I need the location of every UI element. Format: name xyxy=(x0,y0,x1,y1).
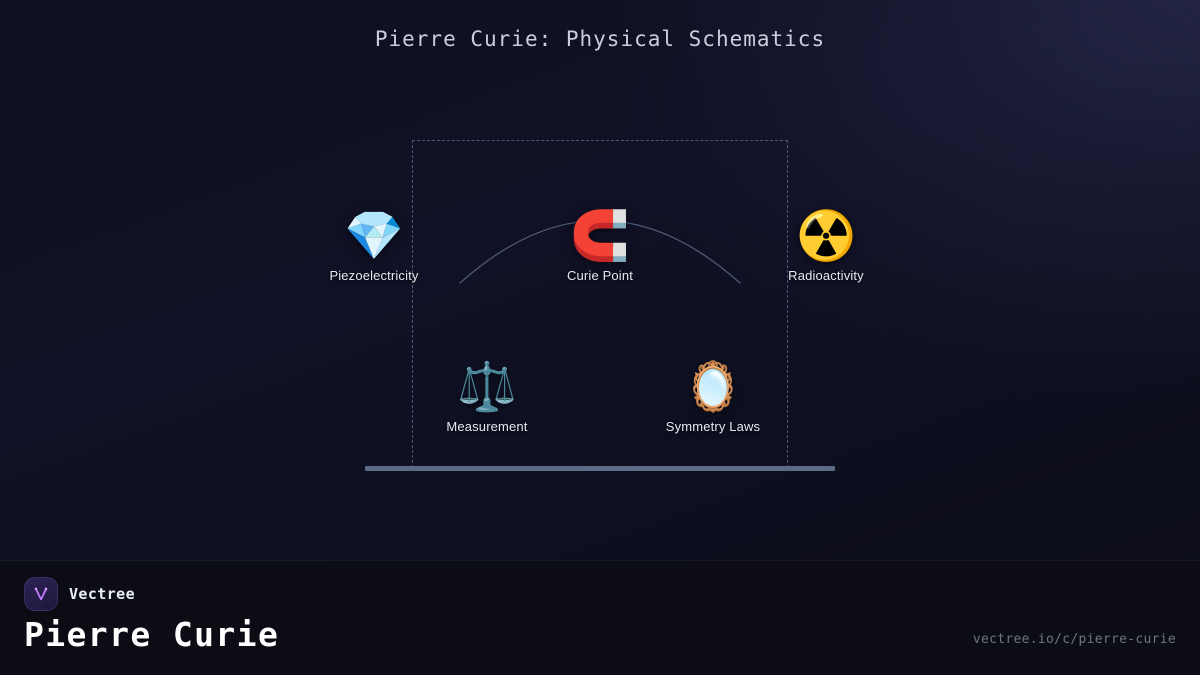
schematic-canvas: 💎 Piezoelectricity 🧲 Curie Point ☢️ Radi… xyxy=(0,0,1200,560)
vectree-logo-icon xyxy=(24,577,58,611)
brand-row[interactable]: Vectree xyxy=(24,577,135,611)
brand-name: Vectree xyxy=(69,585,135,603)
schematic-node-radioactivity[interactable]: ☢️ Radioactivity xyxy=(741,208,911,283)
mirror-icon: 🪞 xyxy=(628,359,798,415)
balance-scale-icon: ⚖️ xyxy=(402,359,572,415)
footer-page-title: Pierre Curie xyxy=(24,615,279,654)
radioactive-icon: ☢️ xyxy=(741,208,911,264)
schematic-node-curie-point[interactable]: 🧲 Curie Point xyxy=(515,208,685,283)
schematic-node-label: Symmetry Laws xyxy=(628,419,798,434)
schematic-node-symmetry-laws[interactable]: 🪞 Symmetry Laws xyxy=(628,359,798,434)
schematic-node-label: Piezoelectricity xyxy=(289,268,459,283)
schematic-node-measurement[interactable]: ⚖️ Measurement xyxy=(402,359,572,434)
schematic-node-label: Radioactivity xyxy=(741,268,911,283)
gem-stone-icon: 💎 xyxy=(289,208,459,264)
baseline-bar xyxy=(365,466,835,471)
schematic-node-label: Measurement xyxy=(402,419,572,434)
schematic-node-label: Curie Point xyxy=(515,268,685,283)
magnet-icon: 🧲 xyxy=(515,208,685,264)
schematic-node-piezoelectricity[interactable]: 💎 Piezoelectricity xyxy=(289,208,459,283)
footer-url: vectree.io/c/pierre-curie xyxy=(973,632,1176,647)
footer-bar: Vectree Pierre Curie vectree.io/c/pierre… xyxy=(0,561,1200,675)
screenshot-root: Pierre Curie: Physical Schematics 💎 Piez… xyxy=(0,0,1200,675)
